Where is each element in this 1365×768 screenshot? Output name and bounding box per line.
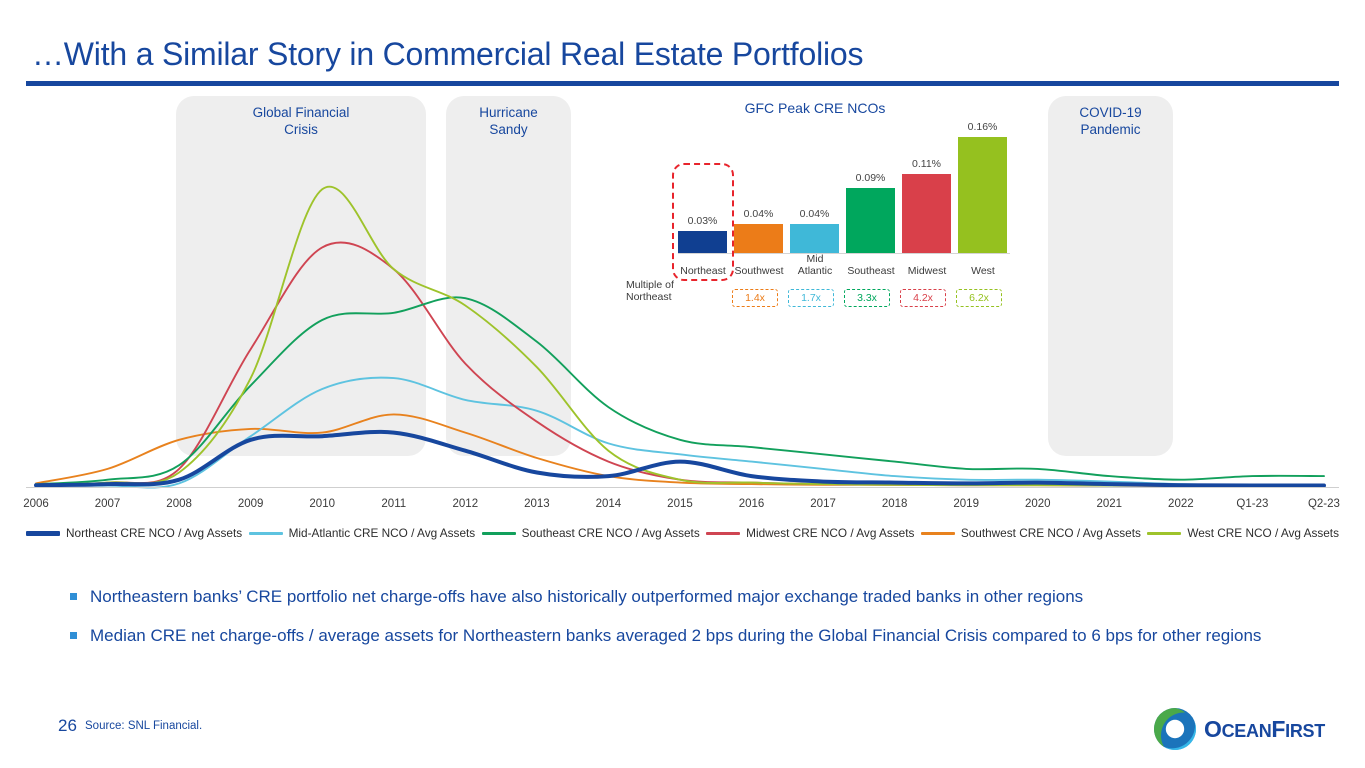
legend-swatch-icon [706,532,740,535]
title-divider [26,81,1339,86]
x-axis-tick-labels: 2006200720082009201020112012201320142015… [26,498,1339,514]
legend-swatch-icon [921,532,955,535]
bullet-square-icon [70,632,77,639]
bar-value-label: 0.16% [968,121,998,133]
bar-value-label: 0.04% [800,208,830,220]
inset-bar-chart: GFC Peak CRE NCOs 0.03%0.04%0.04%0.09%0.… [600,96,1030,311]
x-tick-label: 2020 [1025,498,1051,510]
bar-column[interactable]: 0.11% [902,123,951,253]
legend-label: Mid-Atlantic CRE NCO / Avg Assets [289,526,476,540]
x-tick-label: 2006 [23,498,49,510]
bullet-square-icon [70,593,77,600]
inset-chart-title: GFC Peak CRE NCOs [600,100,1030,116]
bar-column[interactable]: 0.09% [846,123,895,253]
x-tick-label: 2017 [810,498,836,510]
x-tick-label: 2009 [238,498,264,510]
svg-text:OCEANFIRST: OCEANFIRST [1204,716,1325,742]
bar-rect [734,224,783,253]
bar-column[interactable]: 0.04% [734,123,783,253]
bar-column[interactable]: 0.16% [958,123,1007,253]
slide: …With a Similar Story in Commercial Real… [0,0,1365,768]
x-tick-label: 2015 [667,498,693,510]
list-item: Northeastern banks’ CRE portfolio net ch… [64,585,1294,608]
multiple-chips: 1.4x1.7x3.3x4.2x6.2x [600,281,1030,311]
page-number: 26 [58,716,77,736]
legend-swatch-icon [1147,532,1181,535]
multiple-chip: 6.2x [956,289,1002,307]
x-tick-label: Q2-23 [1308,498,1340,510]
legend-label: Southeast CRE NCO / Avg Assets [522,526,700,540]
bar-rect [902,174,951,253]
line-series [36,378,1324,488]
bullet-text: Northeastern banks’ CRE portfolio net ch… [90,587,1083,606]
bar-category-label: Southwest [731,265,787,277]
multiple-chip: 3.3x [844,289,890,307]
x-tick-label: 2011 [381,498,406,510]
legend-item[interactable]: Northeast CRE NCO / Avg Assets [26,526,242,540]
x-tick-label: Q1-23 [1236,498,1268,510]
bar-rect [790,224,839,253]
x-tick-label: 2016 [739,498,765,510]
bar-value-label: 0.11% [912,158,941,170]
x-tick-label: 2007 [95,498,121,510]
legend-swatch-icon [26,531,60,536]
x-tick-label: 2019 [953,498,979,510]
legend-label: Northeast CRE NCO / Avg Assets [66,526,242,540]
bar-category-label: Midwest [899,265,955,277]
northeast-highlight-box [672,163,734,281]
list-item: Median CRE net charge-offs / average ass… [64,624,1294,647]
legend-item[interactable]: Mid-Atlantic CRE NCO / Avg Assets [249,526,476,540]
bar-category-label: Southeast [843,265,899,277]
legend-label: Midwest CRE NCO / Avg Assets [746,526,914,540]
legend-item[interactable]: West CRE NCO / Avg Assets [1147,526,1339,540]
bar-category-label: MidAtlantic [787,253,843,277]
page-title: …With a Similar Story in Commercial Real… [32,36,863,73]
line-series [36,297,1324,484]
x-tick-label: 2012 [453,498,479,510]
bar-rect [846,188,895,253]
legend-item[interactable]: Midwest CRE NCO / Avg Assets [706,526,914,540]
bullet-list: Northeastern banks’ CRE portfolio net ch… [64,585,1294,663]
x-tick-label: 2018 [882,498,908,510]
bar-value-label: 0.04% [744,208,774,220]
source-note: Source: SNL Financial. [85,720,202,732]
x-tick-label: 2014 [596,498,622,510]
multiple-chip: 4.2x [900,289,946,307]
x-tick-label: 2010 [309,498,335,510]
legend-item[interactable]: Southwest CRE NCO / Avg Assets [921,526,1141,540]
x-axis-line [26,487,1339,488]
legend-swatch-icon [249,532,283,535]
x-tick-label: 2021 [1097,498,1123,510]
bar-category-label: West [955,265,1011,277]
legend-item[interactable]: Southeast CRE NCO / Avg Assets [482,526,700,540]
bullet-text: Median CRE net charge-offs / average ass… [90,626,1261,645]
bar-rect [958,137,1007,253]
legend-swatch-icon [482,532,516,535]
x-tick-label: 2022 [1168,498,1194,510]
legend-label: Southwest CRE NCO / Avg Assets [961,526,1141,540]
x-tick-label: 2013 [524,498,550,510]
line-chart-legend: Northeast CRE NCO / Avg AssetsMid-Atlant… [26,523,1339,543]
bar-value-label: 0.09% [856,172,886,184]
multiple-chip: 1.4x [732,289,778,307]
bar-column[interactable]: 0.04% [790,123,839,253]
x-tick-label: 2008 [166,498,192,510]
oceanfirst-logo: OCEANFIRST [1152,706,1347,752]
logo-swirl-icon [1154,708,1196,750]
multiple-chip: 1.7x [788,289,834,307]
legend-label: West CRE NCO / Avg Assets [1187,526,1339,540]
